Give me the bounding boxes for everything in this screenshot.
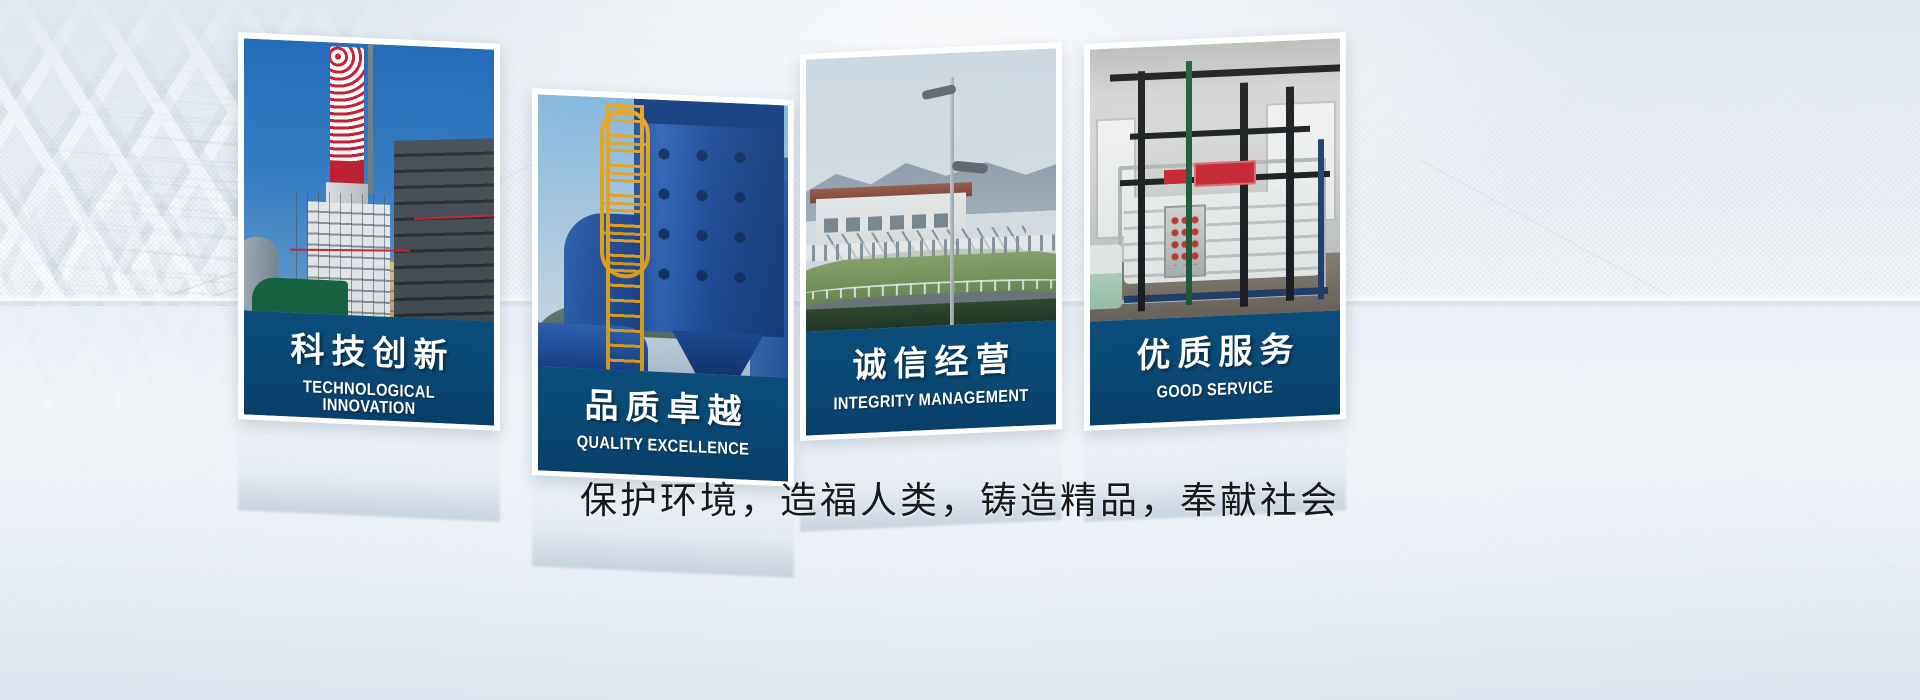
- panel-caption: 诚信经营 INTEGRITY MANAGEMENT: [806, 320, 1056, 435]
- value-panel-good-service[interactable]: 优质服务 GOOD SERVICE: [1084, 32, 1346, 431]
- photo-pipe: [1138, 71, 1145, 311]
- photo-red-sign: [1194, 160, 1256, 187]
- wastewater-treatment-plant-photo: [806, 48, 1056, 331]
- panel-caption: 科技创新 TECHNOLOGICAL INNOVATION: [244, 310, 494, 425]
- photo-pipe: [1286, 86, 1294, 300]
- value-panel-technological-innovation[interactable]: 科技创新 TECHNOLOGICAL INNOVATION: [238, 32, 500, 431]
- panel-inner: 优质服务 GOOD SERVICE: [1090, 38, 1340, 425]
- photo-control-indicators: [1170, 215, 1200, 266]
- dust-collector-equipment-photo: [538, 94, 788, 377]
- banner-tagline: 保护环境，造福人类，铸造精品，奉献社会: [0, 470, 1920, 524]
- photo-pipe: [1318, 139, 1324, 299]
- panel-caption: 品质卓越 QUALITY EXCELLENCE: [538, 366, 788, 481]
- photo-mast: [368, 44, 373, 194]
- panel-caption: 优质服务 GOOD SERVICE: [1090, 310, 1340, 425]
- photo-pipe: [1240, 83, 1248, 307]
- panel-inner: 品质卓越 QUALITY EXCELLENCE: [538, 94, 788, 481]
- photo-chemical-tank: [1090, 244, 1122, 310]
- photo-chimney-band: [330, 160, 364, 184]
- photo-chimney-spiral: [330, 46, 364, 168]
- panel-inner: 科技创新 TECHNOLOGICAL INNOVATION: [244, 38, 494, 425]
- panel-inner: 诚信经营 INTEGRITY MANAGEMENT: [806, 48, 1056, 435]
- photo-warning-sign: [1164, 169, 1186, 184]
- photo-lamp-post: [950, 77, 954, 327]
- corporate-values-banner: 科技创新 TECHNOLOGICAL INNOVATION: [0, 0, 1920, 700]
- panel-subtitle-en: TECHNOLOGICAL INNOVATION: [262, 365, 477, 420]
- photo-ladder-cage: [600, 107, 650, 279]
- value-panel-quality-excellence[interactable]: 品质卓越 QUALITY EXCELLENCE: [532, 88, 794, 487]
- power-plant-chimney-photo: [244, 38, 494, 321]
- photo-bolt-grid: [650, 139, 770, 304]
- photo-pipe-green: [1186, 61, 1192, 305]
- ro-membrane-room-photo: [1090, 38, 1340, 321]
- photo-dark-block: [394, 138, 494, 321]
- value-panel-integrity-management[interactable]: 诚信经营 INTEGRITY MANAGEMENT: [800, 42, 1062, 441]
